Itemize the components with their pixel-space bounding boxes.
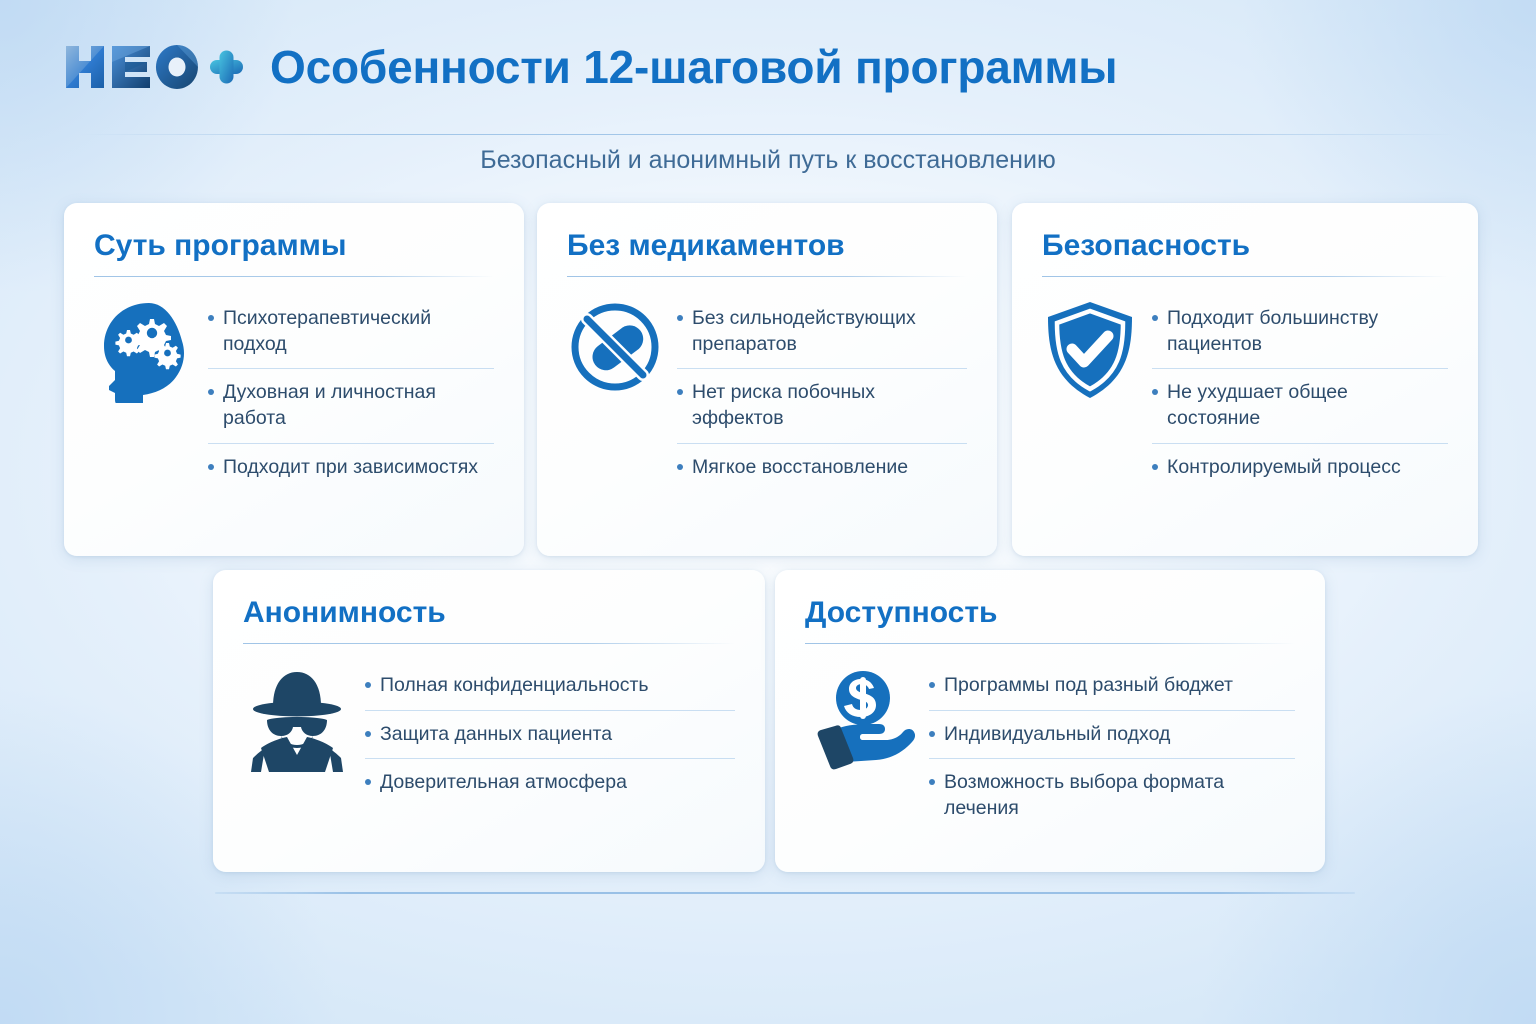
bullet-text: Нет риска побочных эффектов xyxy=(692,380,965,431)
card-divider xyxy=(1042,276,1448,277)
bullet-dot xyxy=(1152,464,1158,470)
no-pills-icon xyxy=(567,295,663,395)
bullet-text: Полная конфиденциальность xyxy=(380,673,733,699)
list-item: Полная конфиденциальность xyxy=(365,662,735,710)
bullet-dot xyxy=(208,389,214,395)
bullet-dot xyxy=(929,682,935,688)
card-divider xyxy=(567,276,967,277)
list-item: Подходит большинству пациентов xyxy=(1152,295,1448,368)
list-item: Без сильнодействующих препаратов xyxy=(677,295,967,368)
card-title: Безопасность xyxy=(1042,229,1448,262)
list-item: Психотерапевтический подход xyxy=(208,295,494,368)
list-item: Доверительная атмосфера xyxy=(365,758,735,807)
bullet-dot xyxy=(677,464,683,470)
card-divider xyxy=(805,643,1295,644)
head-gears-icon xyxy=(94,295,194,403)
list-item: Индивидуальный подход xyxy=(929,710,1295,759)
bullet-text: Контролируемый процесс xyxy=(1167,455,1446,481)
incognito-spy-icon xyxy=(243,662,351,776)
footer-divider xyxy=(215,892,1355,894)
list-item: Защита данных пациента xyxy=(365,710,735,759)
bullet-text: Не ухудшает общее состояние xyxy=(1167,380,1446,431)
list-item: Контролируемый процесс xyxy=(1152,443,1448,492)
bullet-dot xyxy=(929,731,935,737)
bullet-dot xyxy=(365,731,371,737)
card-anonimnost: Анонимность xyxy=(213,570,765,872)
bullet-list: Подходит большинству пациентов Не ухудша… xyxy=(1152,295,1448,492)
bullet-dot xyxy=(677,389,683,395)
list-item: Нет риска побочных эффектов xyxy=(677,368,967,442)
header-divider xyxy=(80,134,1456,135)
bullet-dot xyxy=(365,682,371,688)
page-title: Особенности 12-шаговой программы xyxy=(270,44,1117,90)
bullet-text: Без сильнодействующих препаратов xyxy=(692,306,965,357)
neo-plus-logo xyxy=(64,40,244,94)
page-subtitle: Безопасный и анонимный путь к восстановл… xyxy=(0,146,1536,175)
list-item: Не ухудшает общее состояние xyxy=(1152,368,1448,442)
bullet-text: Подходит большинству пациентов xyxy=(1167,306,1446,357)
shield-check-icon xyxy=(1042,295,1138,401)
bullet-list: Психотерапевтический подход Духовная и л… xyxy=(208,295,494,492)
card-title: Суть программы xyxy=(94,229,494,262)
card-divider xyxy=(243,643,735,644)
bullet-dot xyxy=(208,315,214,321)
bullet-dot xyxy=(929,779,935,785)
infographic-page: Особенности 12-шаговой программы Безопас… xyxy=(0,0,1536,1024)
bullet-dot xyxy=(1152,389,1158,395)
bullet-text: Подходит при зависимостях xyxy=(223,455,492,481)
list-item: Программы под разный бюджет xyxy=(929,662,1295,710)
card-title: Без медикаментов xyxy=(567,229,967,262)
list-item: Подходит при зависимостях xyxy=(208,443,494,492)
card-divider xyxy=(94,276,494,277)
list-item: Возможность выбора формата лечения xyxy=(929,758,1295,832)
card-title: Анонимность xyxy=(243,596,735,629)
card-bez-medikamentov: Без медикаментов Без сильнодействующих п… xyxy=(537,203,997,556)
bullet-text: Программы под разный бюджет xyxy=(944,673,1293,699)
bullet-dot xyxy=(677,315,683,321)
card-bezopasnost: Безопасность Подходит большинству пациен… xyxy=(1012,203,1478,556)
bullet-text: Возможность выбора формата лечения xyxy=(944,770,1293,821)
list-item: Мягкое восстановление xyxy=(677,443,967,492)
bullet-text: Индивидуальный подход xyxy=(944,722,1293,748)
bullet-list: Полная конфиденциальность Защита данных … xyxy=(365,662,735,807)
card-title: Доступность xyxy=(805,596,1295,629)
card-dostupnost: Доступность Программы под раз xyxy=(775,570,1325,872)
list-item: Духовная и личностная работа xyxy=(208,368,494,442)
bullet-text: Мягкое восстановление xyxy=(692,455,965,481)
bullet-text: Защита данных пациента xyxy=(380,722,733,748)
bullet-text: Психотерапевтический подход xyxy=(223,306,492,357)
hand-money-icon xyxy=(805,662,915,770)
bullet-dot xyxy=(365,779,371,785)
bullet-list: Программы под разный бюджет Индивидуальн… xyxy=(929,662,1295,833)
header: Особенности 12-шаговой программы xyxy=(0,0,1536,134)
bullet-text: Духовная и личностная работа xyxy=(223,380,492,431)
bullet-list: Без сильнодействующих препаратов Нет рис… xyxy=(677,295,967,492)
bullet-dot xyxy=(1152,315,1158,321)
bullet-dot xyxy=(208,464,214,470)
bullet-text: Доверительная атмосфера xyxy=(380,770,733,796)
card-sut-programmy: Суть программы xyxy=(64,203,524,556)
